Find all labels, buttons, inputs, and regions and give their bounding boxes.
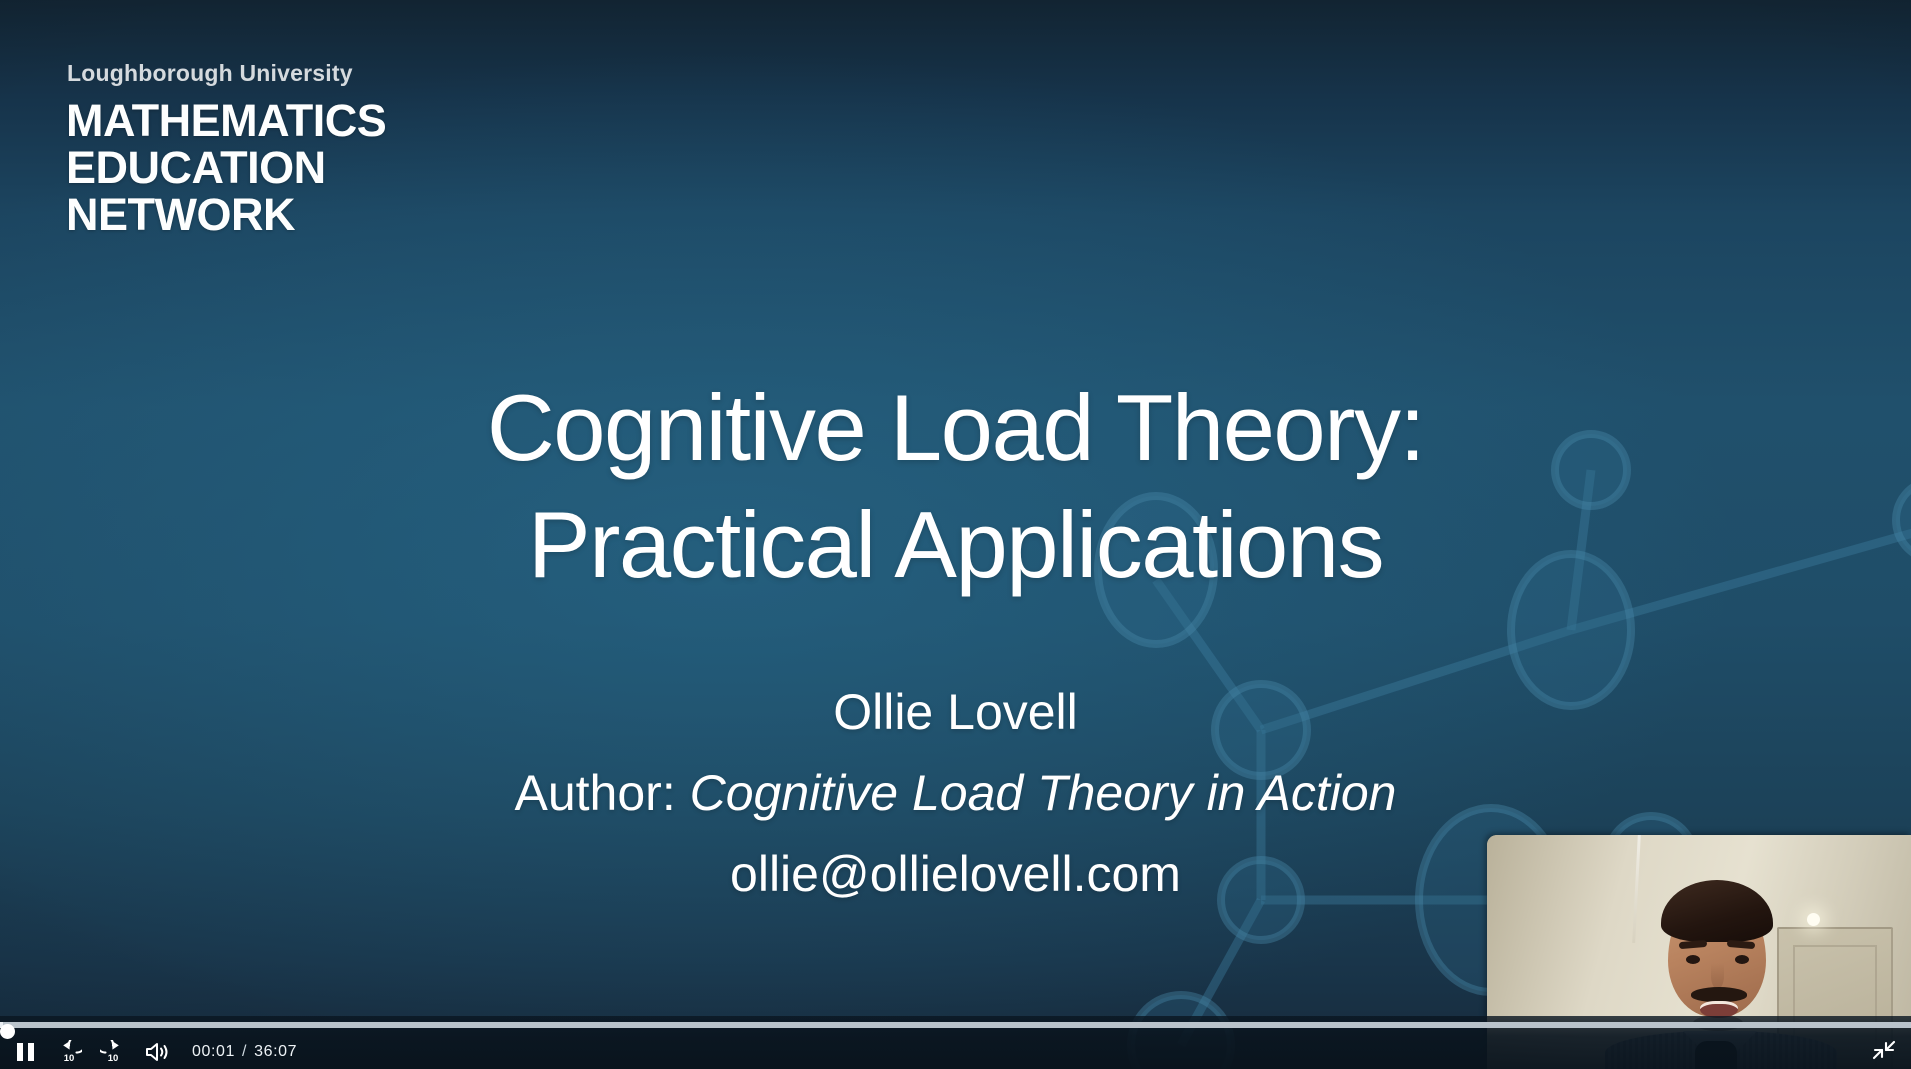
author-credit: Author: Cognitive Load Theory in Action — [0, 753, 1911, 834]
webcam-eye-left — [1686, 955, 1700, 964]
webcam-eye-right — [1735, 955, 1749, 964]
forward-10-icon: 10 — [100, 1040, 126, 1064]
logo-university-name: Loughborough University — [67, 62, 686, 85]
progress-bar[interactable] — [0, 1022, 1911, 1028]
slide-title-line-1: Cognitive Load Theory: — [0, 370, 1911, 487]
webcam-moustache — [1691, 987, 1747, 1002]
svg-text:10: 10 — [64, 1053, 75, 1064]
webcam-nose — [1711, 963, 1724, 989]
slide-title: Cognitive Load Theory: Practical Applica… — [0, 370, 1911, 603]
exit-fullscreen-button[interactable] — [1871, 1038, 1901, 1064]
logo-line-network: NETWORK — [66, 193, 686, 237]
forward-10-button[interactable]: 10 — [94, 1037, 132, 1067]
volume-icon — [145, 1041, 170, 1063]
pause-button[interactable] — [6, 1037, 44, 1067]
time-display: 00:01/36:07 — [192, 1043, 297, 1061]
institution-logo: Loughborough University MATHEMATICS EDUC… — [66, 62, 686, 240]
rewind-10-icon: 10 — [56, 1040, 82, 1064]
presenter-name: Ollie Lovell — [0, 672, 1911, 753]
rewind-10-button[interactable]: 10 — [50, 1037, 88, 1067]
total-duration: 36:07 — [254, 1043, 297, 1060]
player-control-bar: 10 10 00:01/36:07 — [0, 1016, 1911, 1069]
author-credit-prefix: Author: — [515, 765, 690, 821]
volume-button[interactable] — [138, 1037, 176, 1067]
time-separator: / — [242, 1043, 247, 1060]
author-credit-book-title: Cognitive Load Theory in Action — [690, 765, 1397, 821]
svg-text:10: 10 — [108, 1053, 119, 1064]
slide-title-line-2: Practical Applications — [0, 487, 1911, 604]
webcam-ceiling-light — [1807, 913, 1820, 926]
video-player-stage: Loughborough University MATHEMATICS EDUC… — [0, 0, 1911, 1069]
player-buttons: 10 10 00:01/36:07 — [0, 1035, 297, 1069]
current-time: 00:01 — [192, 1043, 235, 1060]
logo-line-education: EDUCATION — [66, 146, 686, 190]
exit-fullscreen-icon — [1871, 1038, 1897, 1062]
logo-line-mathematics: MATHEMATICS — [66, 99, 686, 143]
pause-icon — [16, 1042, 35, 1062]
